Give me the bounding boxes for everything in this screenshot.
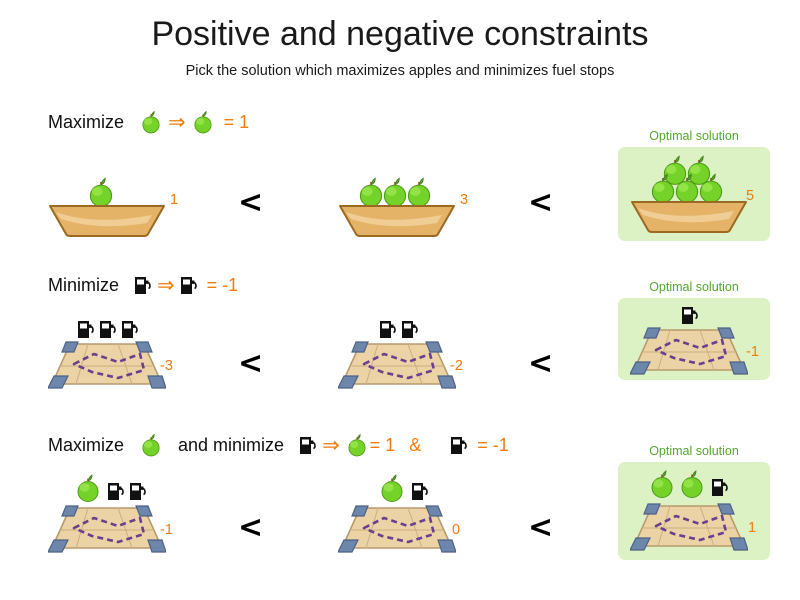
fuel-pump-icon — [179, 274, 199, 296]
optimal-solution-group: Optimal solution — [618, 280, 770, 380]
map-2-pumps[interactable]: -2 — [338, 318, 488, 398]
map-3-pumps[interactable]: -3 — [48, 318, 198, 398]
legend-minimize-fuel: Minimize ⇒ = -1 — [48, 268, 238, 302]
optimal-solution-group: Optimal solution — [618, 129, 770, 241]
score-value: 5 — [746, 188, 754, 204]
rightwards-double-arrow: ⇒ — [157, 275, 175, 296]
rightwards-double-arrow: ⇒ — [322, 435, 340, 456]
rightwards-double-arrow: ⇒ — [168, 112, 186, 133]
fuel-pump-icon — [680, 304, 700, 326]
optimal-solution-label: Optimal solution — [618, 444, 770, 458]
apple-icon — [376, 472, 408, 504]
optimal-solution-label: Optimal solution — [618, 129, 770, 143]
apple-icon — [344, 432, 370, 458]
map-1-apple-2-pumps[interactable]: -1 — [48, 472, 198, 562]
fuel-pump-icon — [710, 476, 730, 498]
optimal-solution-group: Optimal solution — [618, 444, 770, 560]
legend-conjunction: and minimize — [178, 435, 284, 456]
legend-value: = -1 — [207, 275, 239, 296]
map-1-pump[interactable]: -1 — [618, 298, 770, 380]
less-than-sign: < — [528, 346, 553, 381]
fuel-pump-icon — [133, 274, 153, 296]
fuel-pump-icon — [410, 480, 430, 502]
map-1-apple-1-pump[interactable]: 0 — [338, 472, 488, 562]
bowl-5-apples[interactable]: 5 — [618, 147, 770, 241]
map-route-icon — [630, 502, 748, 559]
map-route-icon — [48, 504, 166, 561]
less-than-sign: < — [238, 185, 263, 220]
less-than-sign: < — [528, 510, 553, 545]
map-route-icon — [338, 340, 456, 397]
legend-maximize-apples: Maximize ⇒ = 1 — [48, 105, 249, 139]
score-value: 0 — [452, 522, 460, 538]
apple-icon — [138, 109, 164, 135]
fuel-pump-icon — [378, 318, 398, 340]
bowl-icon — [630, 199, 748, 240]
apple-icon — [138, 432, 164, 458]
fuel-pump-icon — [76, 318, 96, 340]
score-value: -2 — [450, 358, 463, 374]
legend-verb: Minimize — [48, 275, 119, 296]
legend-maximize-apples-minimize-fuel: Maximize and minimize ⇒ = 1 & = -1 — [48, 428, 509, 462]
legend-verb: Maximize — [48, 112, 124, 133]
page-title: Positive and negative constraints — [0, 16, 800, 53]
map-route-icon — [630, 326, 748, 383]
less-than-sign: < — [528, 185, 553, 220]
fuel-pump-icon — [98, 318, 118, 340]
apple-icon — [676, 468, 708, 500]
page-header: Positive and negative constraints Pick t… — [0, 0, 800, 79]
legend-verb: Maximize — [48, 435, 124, 456]
score-value: -1 — [160, 522, 173, 538]
score-value: -3 — [160, 358, 173, 374]
fuel-pump-icon — [120, 318, 140, 340]
score-value: -1 — [746, 344, 759, 360]
bowl-icon — [338, 203, 456, 244]
fuel-pump-icon — [449, 434, 469, 456]
bowl-icon — [48, 203, 166, 244]
page-subtitle: Pick the solution which maximizes apples… — [0, 63, 800, 79]
score-value: 1 — [170, 192, 178, 208]
map-route-icon — [338, 504, 456, 561]
bowl-1-apple[interactable]: 1 — [48, 170, 188, 240]
bowl-3-apples[interactable]: 3 — [338, 170, 478, 240]
fuel-pump-icon — [400, 318, 420, 340]
fuel-pump-icon — [128, 480, 148, 502]
apple-icon — [646, 468, 678, 500]
legend-ampersand: & — [409, 435, 421, 456]
map-2-apples-1-pump[interactable]: 1 — [618, 462, 770, 560]
apple-icon — [190, 109, 216, 135]
score-value: 3 — [460, 192, 468, 208]
apple-icon — [72, 472, 104, 504]
legend-value: = 1 — [370, 435, 396, 456]
map-route-icon — [48, 340, 166, 397]
optimal-solution-label: Optimal solution — [618, 280, 770, 294]
less-than-sign: < — [238, 346, 263, 381]
legend-value: = 1 — [224, 112, 250, 133]
less-than-sign: < — [238, 510, 263, 545]
fuel-pump-icon — [298, 434, 318, 456]
legend-value-2: = -1 — [477, 435, 509, 456]
fuel-pump-icon — [106, 480, 126, 502]
score-value: 1 — [748, 520, 756, 536]
